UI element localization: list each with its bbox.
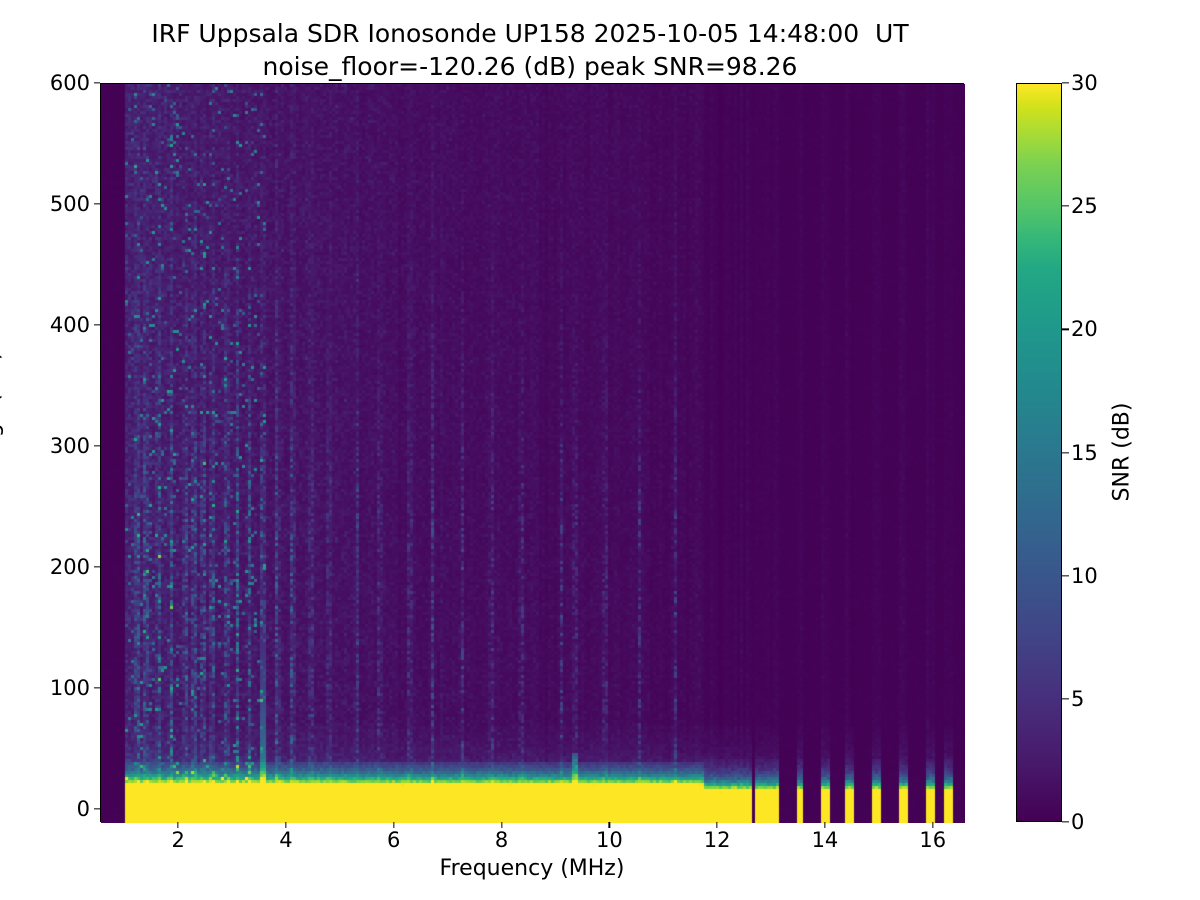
x-tick-label: 8 bbox=[495, 828, 508, 852]
colorbar-tick-label: 30 bbox=[1071, 71, 1098, 95]
x-tick-label: 10 bbox=[596, 828, 623, 852]
colorbar-tick-label: 15 bbox=[1071, 441, 1098, 465]
y-tick-label: 100 bbox=[14, 676, 90, 700]
colorbar-tick-label: 25 bbox=[1071, 194, 1098, 218]
x-tick-label: 16 bbox=[919, 828, 946, 852]
colorbar bbox=[1016, 83, 1062, 822]
title-line-1: IRF Uppsala SDR Ionosonde UP158 2025-10-… bbox=[0, 18, 1060, 51]
y-tick-mark bbox=[94, 203, 100, 204]
y-tick-mark bbox=[94, 808, 100, 809]
y-tick-mark bbox=[94, 82, 100, 83]
title-line-2: noise_floor=-120.26 (dB) peak SNR=98.26 bbox=[0, 51, 1060, 84]
x-axis-label: Frequency (MHz) bbox=[440, 856, 625, 881]
y-tick-mark bbox=[94, 445, 100, 446]
colorbar-tick-label: 5 bbox=[1071, 687, 1084, 711]
x-tick-label: 2 bbox=[171, 828, 184, 852]
colorbar-tick-mark bbox=[1062, 82, 1069, 83]
x-tick-label: 14 bbox=[812, 828, 839, 852]
y-tick-label: 400 bbox=[14, 313, 90, 337]
colorbar-tick-mark bbox=[1062, 575, 1069, 576]
colorbar-tick-mark bbox=[1062, 821, 1069, 822]
colorbar-label: SNR (dB) bbox=[1110, 403, 1135, 502]
y-tick-label: 600 bbox=[14, 71, 90, 95]
ionogram-figure: IRF Uppsala SDR Ionosonde UP158 2025-10-… bbox=[0, 0, 1200, 900]
x-tick-label: 6 bbox=[387, 828, 400, 852]
y-tick-label: 0 bbox=[14, 797, 90, 821]
colorbar-tick-label: 20 bbox=[1071, 317, 1098, 341]
y-tick-mark bbox=[94, 687, 100, 688]
y-tick-mark bbox=[94, 324, 100, 325]
ionogram-heatmap bbox=[101, 84, 965, 823]
colorbar-tick-label: 10 bbox=[1071, 564, 1098, 588]
y-axis-label: Virtual range (km) bbox=[0, 351, 5, 552]
x-tick-label: 12 bbox=[704, 828, 731, 852]
y-tick-label: 300 bbox=[14, 434, 90, 458]
colorbar-tick-mark bbox=[1062, 206, 1069, 207]
y-tick-mark bbox=[94, 566, 100, 567]
y-tick-label: 200 bbox=[14, 555, 90, 579]
colorbar-gradient bbox=[1016, 83, 1062, 822]
colorbar-tick-mark bbox=[1062, 329, 1069, 330]
colorbar-tick-label: 0 bbox=[1071, 810, 1084, 834]
ionogram-plot-area[interactable] bbox=[100, 83, 964, 822]
colorbar-tick-mark bbox=[1062, 698, 1069, 699]
figure-title: IRF Uppsala SDR Ionosonde UP158 2025-10-… bbox=[0, 18, 1060, 83]
colorbar-tick-mark bbox=[1062, 452, 1069, 453]
x-tick-label: 4 bbox=[279, 828, 292, 852]
y-tick-label: 500 bbox=[14, 192, 90, 216]
